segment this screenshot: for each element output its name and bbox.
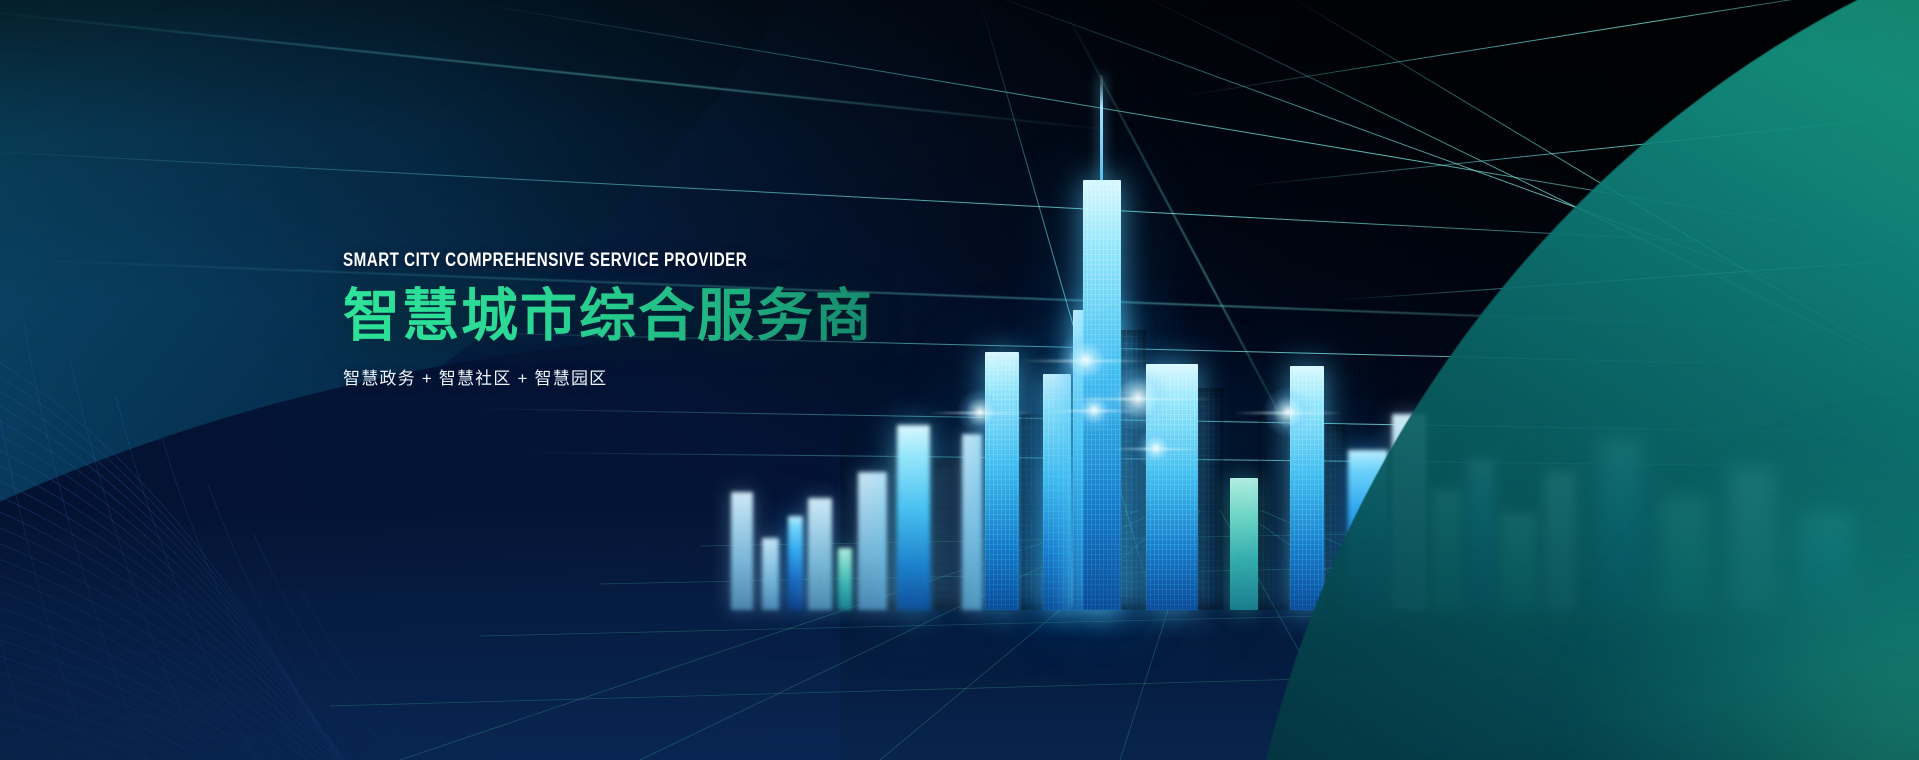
building-windows	[962, 434, 982, 610]
building-dark-tower-b	[934, 460, 960, 610]
building-pale-block-right	[1230, 478, 1258, 610]
hero-subline: 智慧政务 + 智慧社区 + 智慧园区	[343, 364, 874, 389]
building-windows	[1258, 412, 1288, 610]
building-landmark-right-wing	[1121, 330, 1146, 610]
hero-eyebrow: SMART CITY COMPREHENSIVE SERVICE PROVIDE…	[343, 250, 768, 272]
building-windows	[1146, 364, 1198, 610]
lens-flare-streak	[1233, 412, 1343, 414]
building-bright-tower-right	[1290, 366, 1324, 610]
building-short-block-a	[762, 538, 779, 610]
hero-banner: SMART CITY COMPREHENSIVE SERVICE PROVIDE…	[0, 0, 1919, 760]
building-windows	[1198, 388, 1224, 610]
building-short-block-b	[788, 516, 803, 610]
hero-copy: SMART CITY COMPREHENSIVE SERVICE PROVIDE…	[343, 250, 874, 389]
building-glass-tower-b	[1198, 388, 1224, 610]
building-dark-tower-f	[1258, 412, 1288, 610]
building-tall-slab-left	[858, 472, 887, 610]
landmark-spire	[1100, 75, 1103, 180]
building-pale-tower-mid	[962, 434, 982, 610]
building-bright-tower-left	[985, 352, 1019, 610]
building-windows	[1121, 330, 1146, 610]
building-glass-tower-a	[1146, 364, 1198, 610]
building-windows	[985, 352, 1019, 610]
building-mid-slab-a	[808, 498, 832, 610]
green-glow-decoration	[1339, 180, 1919, 760]
building-windows	[934, 460, 960, 610]
building-skirt-tower-left	[1043, 374, 1071, 610]
building-mid-slab-b	[838, 548, 852, 610]
building-windows	[1290, 366, 1324, 610]
building-windows	[1083, 180, 1121, 610]
building-windows	[897, 425, 930, 610]
building-landmark-tower	[1083, 180, 1121, 610]
building-pale-slab-far-left	[731, 492, 753, 610]
building-tower-window-a	[897, 425, 930, 610]
building-windows	[1043, 374, 1071, 610]
hero-headline: 智慧城市综合服务商	[343, 286, 874, 348]
